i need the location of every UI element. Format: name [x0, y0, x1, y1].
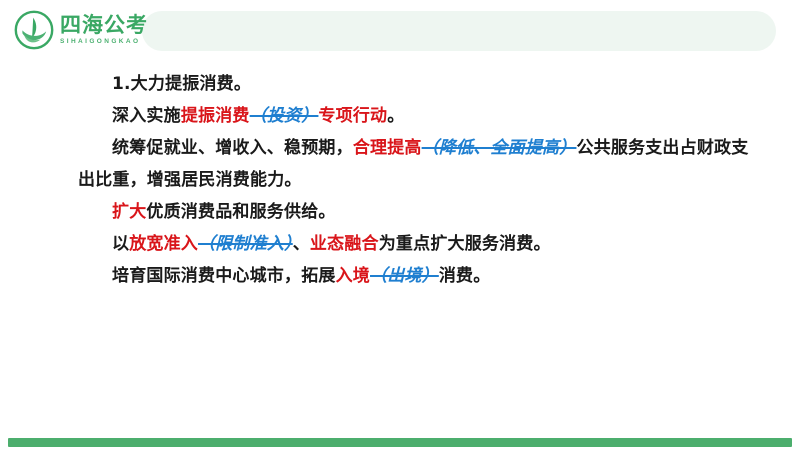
- leaf-circle-logo-icon: [14, 10, 54, 50]
- keyword-text: 合理提高: [353, 138, 422, 158]
- body-text: 以: [112, 234, 129, 254]
- body-text: 深入实施: [112, 106, 181, 126]
- body-text: 消费。: [439, 266, 491, 286]
- slide-header: 四海公考 SIHAIGONGKAO: [0, 0, 800, 62]
- body-text: 1.大力提振消费。: [112, 74, 251, 94]
- footer-accent-bar: [8, 438, 792, 447]
- body-text: 统筹促就业、增收入、稳预期，: [112, 138, 353, 158]
- body-line-6: 培育国际消费中心城市，拓展入境（出境）消费。: [0, 260, 800, 292]
- body-line-3: 统筹促就业、增收入、稳预期，合理提高（降低、全面提高）公共服务支出占财政支出比重…: [0, 132, 800, 196]
- body-text: 。: [387, 106, 404, 126]
- keyword-text: 扩大: [112, 202, 146, 222]
- keyword-text: 业态融合: [310, 234, 379, 254]
- body-line-4: 扩大优质消费品和服务供给。: [0, 196, 800, 228]
- brand-name: 四海公考: [60, 15, 148, 36]
- body-text: 优质消费品和服务供给。: [146, 202, 335, 222]
- brand-subtitle: SIHAIGONGKAO: [60, 39, 148, 46]
- body-text: 为重点扩大服务消费。: [379, 234, 551, 254]
- body-text: 培育国际消费中心城市，拓展: [112, 266, 336, 286]
- keyword-text: 入境: [336, 266, 370, 286]
- keyword-text: 提振消费: [181, 106, 250, 126]
- brand-logo: 四海公考 SIHAIGONGKAO: [14, 10, 148, 50]
- header-decorative-panel: [142, 11, 776, 51]
- struck-alternative-text: （出境）: [370, 266, 439, 286]
- slide-body: 1.大力提振消费。 深入实施提振消费（投资）专项行动。 统筹促就业、增收入、稳预…: [0, 62, 800, 418]
- body-line-5: 以放宽准入（限制准入）、业态融合为重点扩大服务消费。: [0, 228, 800, 260]
- struck-alternative-text: （限制准入）: [198, 234, 293, 254]
- body-line-heading: 1.大力提振消费。: [0, 62, 800, 100]
- keyword-text: 放宽准入: [129, 234, 198, 254]
- brand-text: 四海公考 SIHAIGONGKAO: [60, 15, 148, 46]
- keyword-text: 专项行动: [318, 106, 387, 126]
- body-text: 、: [293, 234, 310, 254]
- struck-alternative-text: （投资）: [250, 106, 319, 126]
- body-line-2: 深入实施提振消费（投资）专项行动。: [0, 100, 800, 132]
- struck-alternative-text: （降低、全面提高）: [422, 138, 577, 158]
